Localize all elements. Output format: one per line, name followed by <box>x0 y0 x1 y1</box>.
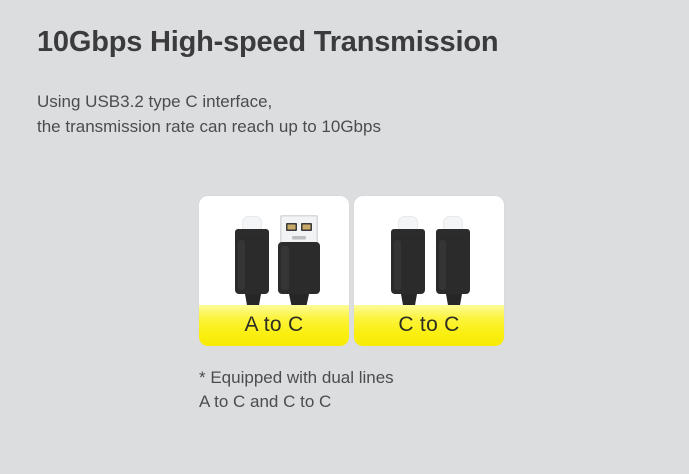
footnote-line-1: * Equipped with dual lines <box>199 366 394 390</box>
card-label-a-to-c: A to C <box>245 313 304 337</box>
card-band-a-to-c: A to C <box>199 305 349 346</box>
cable-card-list: A to C <box>199 196 504 346</box>
card-band-c-to-c: C to C <box>354 305 504 346</box>
subtitle-line-2: the transmission rate can reach up to 10… <box>37 114 381 139</box>
promo-panel: 10Gbps High-speed Transmission Using USB… <box>0 0 689 474</box>
page-title: 10Gbps High-speed Transmission <box>37 26 498 59</box>
footnote-block: * Equipped with dual lines A to C and C … <box>199 366 394 414</box>
subtitle-line-1: Using USB3.2 type C interface, <box>37 89 381 114</box>
cable-card-a-to-c[interactable]: A to C <box>199 196 349 346</box>
subtitle-block: Using USB3.2 type C interface, the trans… <box>37 89 381 139</box>
footnote-line-2: A to C and C to C <box>199 390 394 414</box>
cable-card-c-to-c[interactable]: C to C <box>354 196 504 346</box>
card-label-c-to-c: C to C <box>398 313 459 337</box>
